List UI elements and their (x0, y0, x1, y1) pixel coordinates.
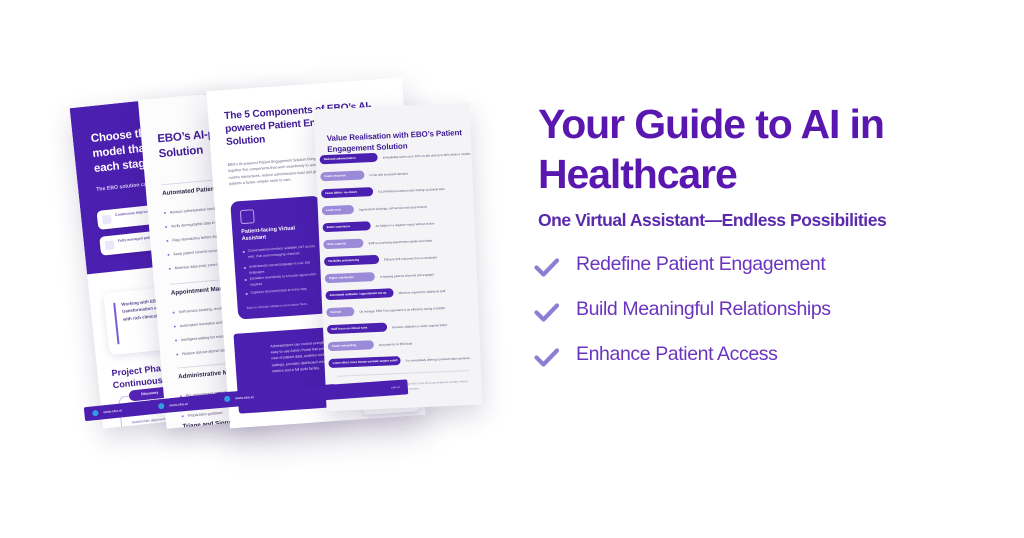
ebo-logo-icon (224, 396, 230, 402)
page3-card-virtual-assistant: Patient-facing Virtual Assistant Convers… (230, 196, 328, 320)
page3-card-item: Conversational interface available 24/7 … (248, 244, 321, 260)
page4-row-note: On average, EBO Trust equivalent is an e… (359, 306, 446, 314)
page4-row-note: and patterns on EBO data (379, 341, 413, 346)
ebo-logo-icon (158, 403, 165, 410)
divider (337, 370, 469, 376)
page4-row-pill-label: Better experience (327, 224, 368, 230)
page4-row-note: Appointment bookings, self-service and a… (359, 204, 427, 211)
list-item-label: Redefine Patient Engagement (576, 253, 825, 276)
page4-value-row: Higher satisfactionIn keeping patients i… (325, 268, 473, 283)
page4-row-note: Staff re-prioritising appointment uptake… (368, 238, 432, 245)
page3-card-item: Captures structured data at every step (250, 286, 322, 297)
page4-row-pill: Staff focus on clinical work (327, 323, 387, 335)
page4-value-row: Lower effort, more human-centred, target… (328, 353, 476, 368)
page4-row-pill: Lower cost (322, 205, 354, 215)
ebo-logo-icon (92, 410, 99, 417)
page4-row-note: Efficient shift outcomes from a complete… (384, 255, 437, 261)
page4-value-row: Better experienceAs helpful or a negativ… (322, 217, 470, 232)
page4-row-pill-label: Savings (330, 309, 351, 314)
page4-row-note: Minimum required for additional staff (398, 289, 445, 295)
page-title: Your Guide to AI in Healthcare (538, 99, 978, 199)
page4-row-pill-label: Fewer DNAs / no-shows (325, 190, 370, 196)
page4-value-row: Faster responseIn line with increased de… (320, 166, 468, 181)
check-icon (534, 257, 560, 279)
page4-value-row: Automated validation / appointment set-u… (325, 285, 473, 300)
page-subtitle: One Virtual Assistant—Endless Possibilit… (538, 210, 1008, 231)
page4-row-note: In keeping patients informed and engaged (380, 272, 434, 278)
spine-url: www.ebo.ai (169, 402, 188, 408)
page4-row-note: As helpful or a negative impact without … (376, 221, 435, 228)
gear-icon (102, 215, 112, 225)
page4-row-pill: Lower effort, more human-centred, target… (328, 356, 400, 368)
page4-value-row: Faster onboardingand patterns on EBO dat… (328, 336, 476, 351)
page4-value-row: Staff focus on clinical workRemains vali… (327, 319, 475, 334)
page4-value-row: Lower costAppointment bookings, self-ser… (322, 200, 470, 215)
list-item: Build Meaningful Relationships (494, 297, 964, 342)
page4-row-pill: Automated validation / appointment set-u… (325, 288, 393, 300)
person-icon (105, 240, 115, 250)
page4-row-pill: Better experience (322, 221, 370, 232)
page4-value-row: More capacityStaff re-prioritising appoi… (323, 234, 471, 249)
page4-row-pill-label: More capacity (327, 241, 360, 246)
page4-row-pill-label: Automated validation / appointment set-u… (330, 291, 391, 298)
page4-row-pill: Flexibility and planning (324, 255, 379, 266)
page3-card-heading: Patient-facing Virtual Assistant (241, 224, 318, 244)
page4-row-pill-label: Faster response (324, 173, 361, 179)
spine-url: www.ebo.ai (103, 408, 122, 414)
page4-row-pill: Faster onboarding (328, 340, 374, 351)
page4-row-note: Fix DNA/did-not-attend rates freeing up … (378, 186, 445, 193)
brochure-mockup: Choose the delivery model that suits you… (0, 0, 500, 538)
page4-row-pill-label: Lower cost (326, 207, 351, 212)
check-icon (534, 347, 560, 369)
page4-row-note: In line with increased demand (369, 171, 407, 177)
list-item: Redefine Patient Engagement (494, 252, 964, 297)
page4-value-row: Flexibility and planningEfficient shift … (324, 251, 472, 266)
page4-row-pill: Fewer DNAs / no-shows (321, 187, 373, 198)
page4-row-pill-label: Flexibility and planning (328, 257, 376, 263)
page4-row-pill-label: Lower effort, more human-centred, target… (332, 359, 397, 366)
assistant-icon (240, 209, 255, 224)
list-item-label: Build Meaningful Relationships (576, 298, 831, 321)
page4-row-pill-label: Higher satisfaction (329, 275, 372, 281)
brochure-page-4: Value Realisation with EBO’s Patient Eng… (313, 103, 482, 412)
spine-tag: ebo.ai (391, 385, 400, 390)
page4-row-note: For immediately offering consistent data… (405, 356, 469, 363)
page3-card-footer: Built on clinically validated conversati… (247, 301, 323, 311)
list-item: Enhance Patient Access (494, 342, 964, 387)
page4-row-pill: Reduced administration (319, 153, 377, 165)
hero-content: Your Guide to AI in Healthcare One Virtu… (538, 0, 1008, 538)
page4-row-pill: Faster response (320, 170, 364, 181)
quote-accent-bar (113, 303, 119, 345)
page4-value-row: Fewer DNAs / no-showsFix DNA/did-not-att… (321, 183, 469, 198)
page4-row-note: Remains validation is under required EBO… (392, 323, 448, 329)
spine-url: www.ebo.ai (235, 395, 254, 400)
page4-row-note: Immediately saves up to 30% of calls and… (383, 151, 471, 159)
check-icon (534, 302, 560, 324)
page4-row-pill: Savings (326, 307, 354, 317)
page4-row-pill-label: Faster onboarding (332, 343, 371, 349)
page4-row-pill: Higher satisfaction (325, 272, 375, 283)
page4-value-row: SavingsOn average, EBO Trust equivalent … (326, 302, 474, 317)
page4-row-pill: More capacity (323, 239, 363, 250)
benefit-list: Redefine Patient Engagement Build Meanin… (494, 252, 964, 387)
page4-row-pill-label: Reduced administration (324, 155, 375, 161)
page4-row-pill-label: Staff focus on clinical work (331, 325, 384, 331)
list-item-label: Enhance Patient Access (576, 343, 778, 366)
